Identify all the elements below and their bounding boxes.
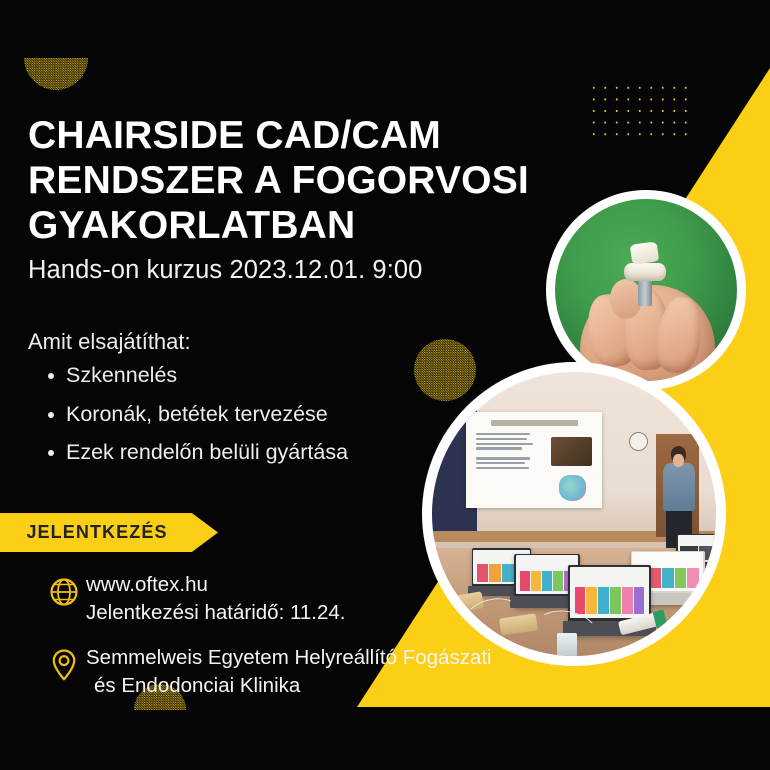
slide-photo [551,437,592,466]
slide-diagram [559,475,586,500]
page-title: CHAIRSIDE CAD/CAM RENDSZER A FOGORVOSI G… [28,113,568,249]
apply-cta-banner[interactable]: JELENTKEZÉS [0,513,218,552]
benefits-lead: Amit elsajátíthat: [28,329,191,355]
contact-row-website: www.oftex.hu Jelentkezési határidő: 11.2… [42,570,562,627]
photo-circle-crown [546,190,746,390]
wall-clock-icon [629,432,648,451]
map-pin-icon [42,643,86,687]
website-url[interactable]: www.oftex.hu [86,571,345,599]
photo-crown-image [555,199,737,381]
presenter-body [663,463,694,511]
ceramic-block-lower [624,263,666,281]
list-item: Koronák, betétek tervezése [66,402,348,427]
poster-canvas: CHAIRSIDE CAD/CAM RENDSZER A FOGORVOSI G… [0,0,770,770]
contact-venue-text: Semmelweis Egyetem Helyreállító Fogászat… [86,643,492,700]
presenter-face [673,454,684,466]
contact-website-text: www.oftex.hu Jelentkezési határidő: 11.2… [86,570,345,627]
application-deadline: Jelentkezési határidő: 11.24. [86,599,345,627]
dot-grid-pattern [588,82,692,140]
slide-title-bar [491,420,578,426]
globe-icon [42,570,86,614]
venue-line-2: és Endodonciai Klinika [86,672,492,700]
contact-row-venue: Semmelweis Egyetem Helyreállító Fogászat… [42,643,562,700]
benefits-list: Szkennelés Koronák, betétek tervezése Ez… [40,363,348,479]
apply-cta-label: JELENTKEZÉS [0,513,194,552]
venue-line-1: Semmelweis Egyetem Helyreállító Fogászat… [86,644,492,672]
projection-screen [466,412,602,509]
course-subtitle: Hands-on kurzus 2023.12.01. 9:00 [28,256,422,285]
list-item: Ezek rendelőn belüli gyártása [66,440,348,465]
mandrel-shape [638,277,653,306]
list-item: Szkennelés [66,363,348,388]
contact-block: www.oftex.hu Jelentkezési határidő: 11.2… [42,570,562,716]
ceramic-block-upper [630,241,660,265]
